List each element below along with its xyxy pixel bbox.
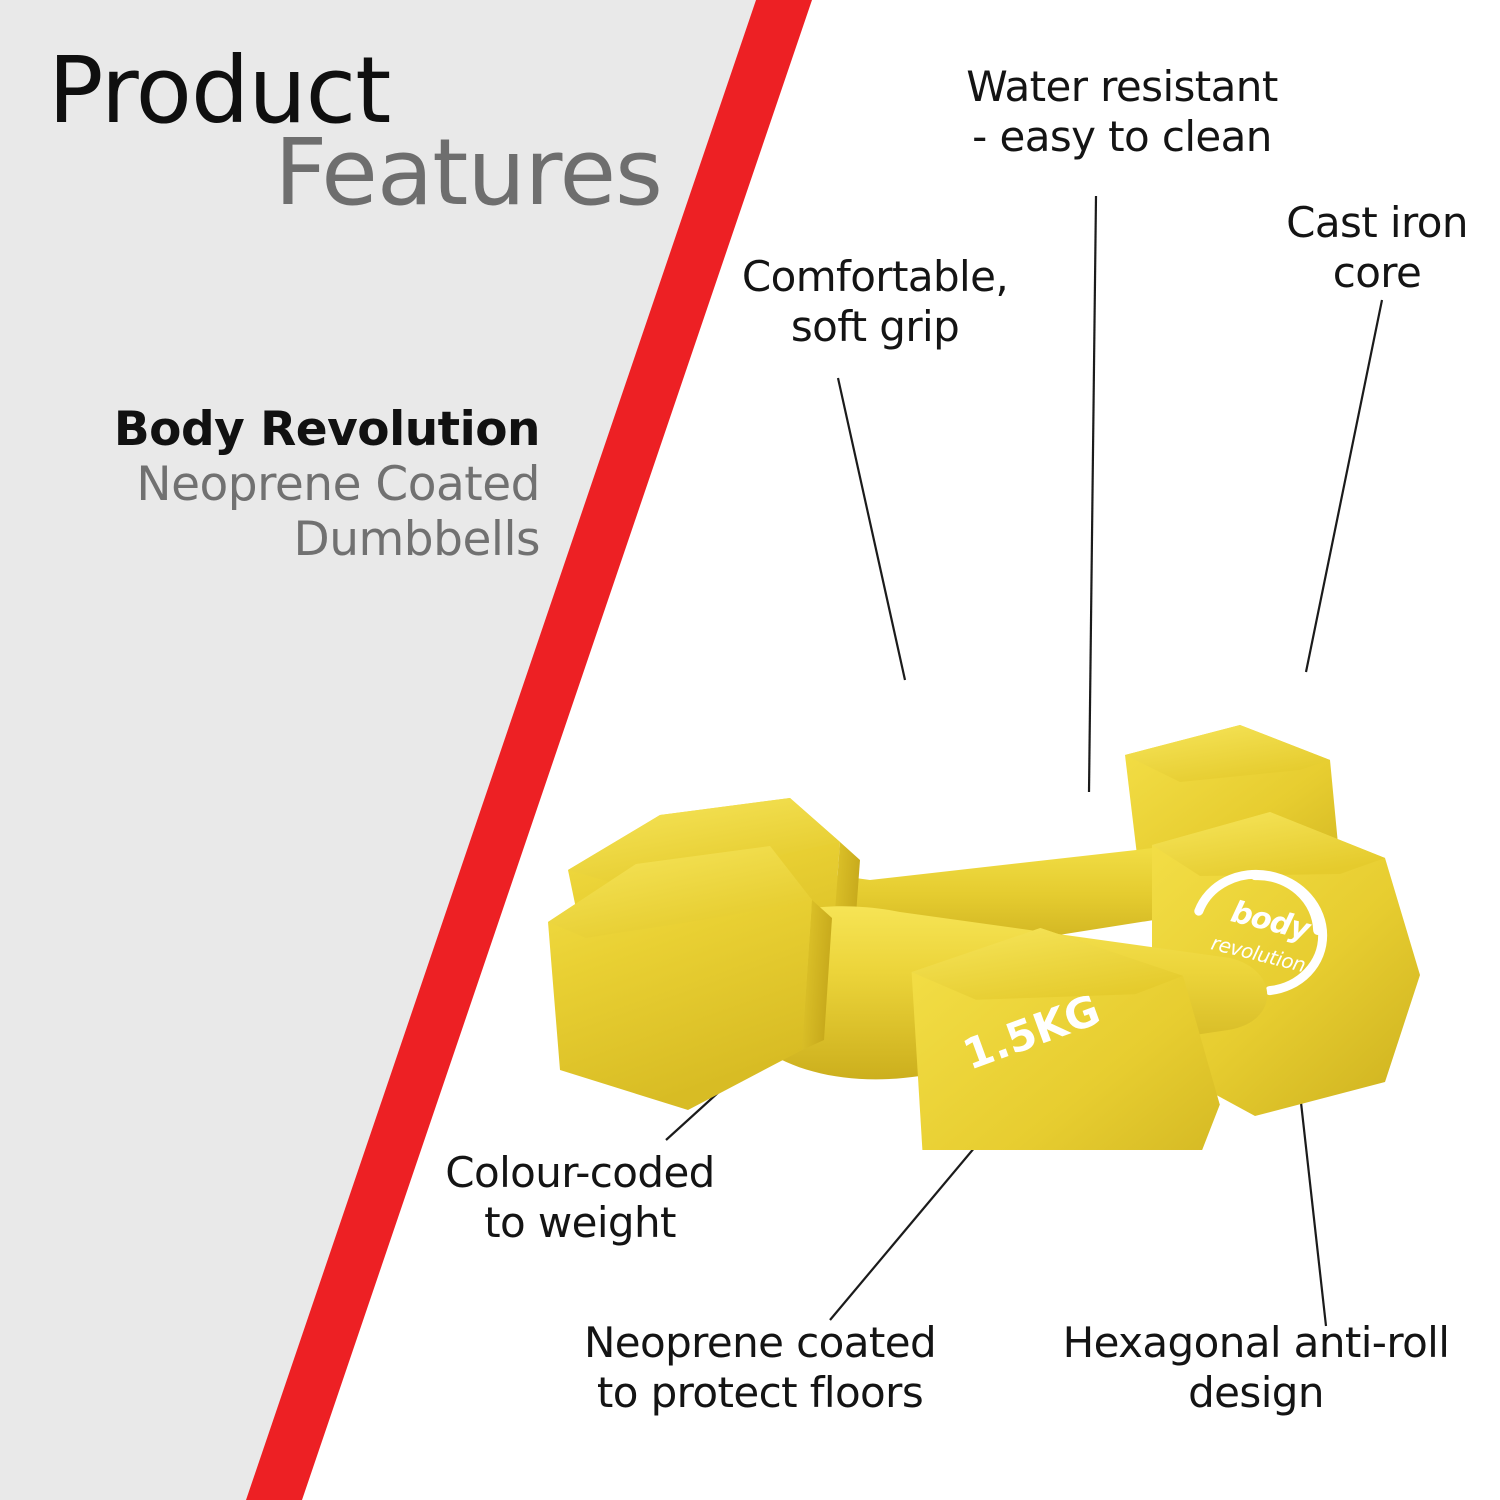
callout-water-resistant: Water resistant - easy to clean bbox=[952, 62, 1292, 161]
callout-colour-coded: Colour-coded to weight bbox=[430, 1148, 730, 1247]
dumbbell-product-image: body revolution 1.5KG bbox=[540, 630, 1460, 1150]
callout-neoprene-coated: Neoprene coated to protect floors bbox=[560, 1318, 960, 1417]
leader-line-cast-iron-core bbox=[1306, 300, 1382, 672]
callout-soft-grip: Comfortable, soft grip bbox=[740, 252, 1010, 351]
callout-cast-iron-core: Cast iron core bbox=[1262, 198, 1492, 297]
infographic-canvas: Product Features Body Revolution Neopren… bbox=[0, 0, 1500, 1500]
callout-hexagonal: Hexagonal anti-roll design bbox=[1046, 1318, 1466, 1417]
leader-line-neoprene-coated bbox=[830, 1122, 996, 1320]
